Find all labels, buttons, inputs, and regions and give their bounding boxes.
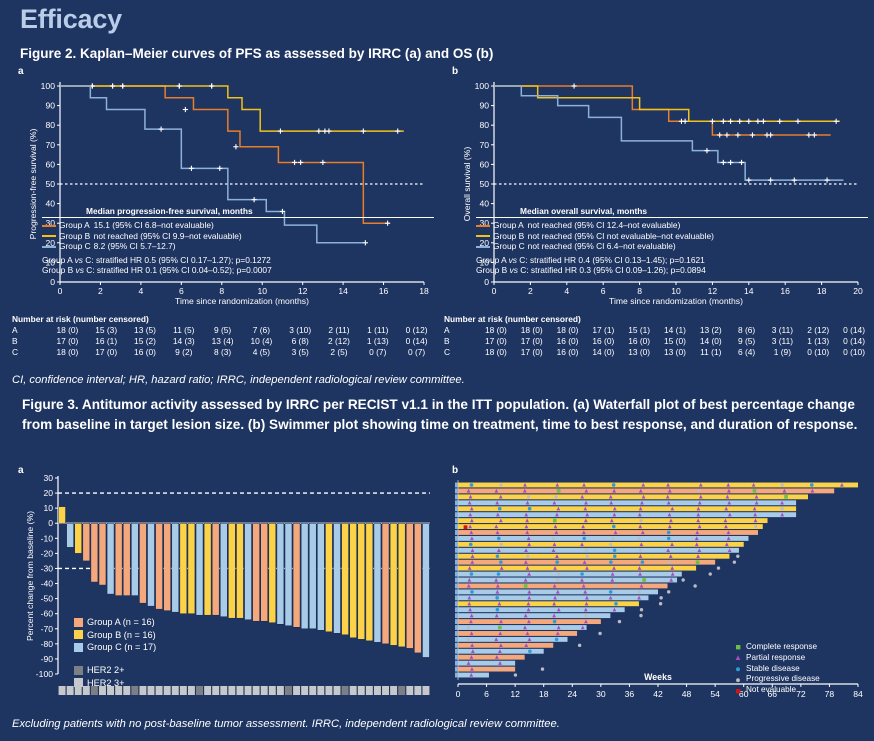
x-tick-label: 18 [539, 689, 549, 699]
risk-cell: 10 (4) [242, 336, 281, 347]
waterfall-bar [366, 523, 373, 641]
censor-mark [746, 119, 751, 124]
waterfall-bar [414, 523, 421, 653]
waterfall-bar [261, 523, 268, 621]
patient-row-tick [455, 619, 458, 624]
y-tick-label: -40 [41, 579, 54, 589]
swimmer-bar [458, 512, 796, 517]
km-curve-group-a [494, 86, 831, 135]
stable-disease-marker [497, 572, 501, 576]
patient-row-tick [455, 530, 458, 535]
y-tick-label: 0 [50, 277, 55, 287]
risk-cell: 15 (0) [657, 336, 693, 347]
progressive-disease-marker [611, 537, 614, 540]
waterfall-bar [67, 523, 74, 547]
censor-mark [110, 83, 115, 88]
swimmer-bar [458, 661, 515, 666]
her2-status-cell [309, 686, 316, 695]
legend-label: Progressive disease [746, 674, 820, 685]
her2-status-cell [148, 686, 155, 695]
her2-status-cell [253, 686, 260, 695]
risk-cell: 18 (0) [48, 325, 87, 336]
swatch [476, 235, 490, 237]
waterfall-bar [91, 523, 98, 582]
risk-cell: 18 (0) [550, 325, 586, 336]
risk-cell: 3 (11) [765, 325, 801, 336]
waterfall-bar [83, 523, 90, 561]
waterfall-bar [59, 507, 66, 524]
x-tick-label: 2 [98, 286, 103, 296]
risk-cell: 16 (0) [126, 347, 165, 358]
complete-response-marker [696, 560, 700, 564]
row-label: A [12, 325, 48, 336]
swatch [42, 225, 56, 227]
progressive-disease-marker [500, 543, 503, 546]
legend-table: Group Anot reached (95% CI 12.4–not eval… [476, 220, 717, 252]
waterfall-bar [188, 523, 195, 613]
y-tick-label: -100 [36, 669, 53, 679]
legend-row: Progressive disease [734, 674, 820, 685]
censor-mark [120, 83, 125, 88]
hazard-ratio-line: Group B vs C: stratified HR 0.3 (95% CI … [476, 265, 868, 276]
complete-response-marker [753, 489, 757, 493]
legend-group-label: Group A [59, 220, 94, 231]
legend-label: HER2 3+ [87, 677, 125, 690]
risk-cell: 17 (0) [48, 336, 87, 347]
patient-row-tick [455, 560, 458, 565]
number-at-risk-os: Number at risk (number censored)A18 (0)1… [444, 314, 872, 358]
progressive-disease-marker [499, 483, 502, 486]
legend-glyph-square [734, 687, 742, 695]
y-tick-label: -80 [41, 639, 54, 649]
stable-disease-marker [582, 537, 586, 541]
her2-status-cell [366, 686, 373, 695]
x-tick-label: 84 [853, 689, 863, 699]
legend-group-label: Group B [493, 231, 528, 242]
patient-row-tick [455, 643, 458, 648]
progressive-disease-marker [736, 555, 739, 558]
legend-row: Group C8.2 (95% CI 5.7–12.7) [42, 241, 245, 252]
progressive-disease-marker [586, 555, 589, 558]
waterfall-bar [99, 523, 106, 585]
risk-cell: 11 (5) [164, 325, 203, 336]
km-pfs-chart: 0102030405060708090100024681012141618Tim… [12, 78, 437, 313]
patient-row-tick [455, 607, 458, 612]
not-evaluable-marker [464, 525, 468, 529]
censor-mark [326, 128, 331, 133]
patient-row-tick [455, 554, 458, 559]
progressive-disease-marker [668, 561, 671, 564]
waterfall-legend: Group A (n = 16)Group B (n = 16)Group C … [74, 616, 156, 654]
swimmer-bar [458, 500, 796, 505]
progressive-disease-marker [618, 620, 621, 623]
waterfall-bar [342, 523, 349, 635]
risk-cell: 2 (12) [320, 336, 359, 347]
complete-response-marker [553, 519, 557, 523]
progressive-disease-marker [527, 495, 530, 498]
legend-row: Stable disease [734, 664, 820, 675]
waterfall-bar [180, 523, 187, 613]
swimmer-bar [458, 530, 758, 535]
legend-glyph-triangle [734, 654, 742, 662]
stable-disease-marker [497, 537, 501, 541]
legend-header: Median progression-free survival, months [42, 206, 434, 216]
risk-cell: 2 (12) [800, 325, 836, 336]
waterfall-bar [156, 523, 163, 609]
waterfall-bar [301, 523, 308, 629]
y-tick-label: -20 [41, 548, 54, 558]
km_os-legend: Median overall survival, monthsGroup Ano… [476, 206, 868, 276]
progressive-disease-marker [781, 507, 784, 510]
legend-color-swatch [74, 666, 83, 675]
her2-status-cell [228, 686, 235, 695]
risk-cell: 1 (11) [358, 325, 397, 336]
risk-cell: 4 (5) [242, 347, 281, 358]
x-tick-label: 8 [219, 286, 224, 296]
x-tick-label: 54 [710, 689, 720, 699]
risk-cell: 0 (14) [836, 325, 872, 336]
km-curve-group-c [494, 86, 843, 180]
x-tick-label: 16 [780, 286, 790, 296]
x-tick-label: 4 [564, 286, 569, 296]
progressive-disease-marker [526, 555, 529, 558]
poster-slide: Efficacy Figure 2. Kaplan–Meier curves o… [0, 0, 874, 741]
waterfall-chart: 3020100-10-20-30-40-50-60-70-80-90-100Pe… [12, 468, 438, 712]
stable-disease-marker [613, 549, 617, 553]
censor-mark [812, 132, 817, 137]
censor-mark [768, 177, 773, 182]
risk-cell: 6 (4) [729, 347, 765, 358]
her2-status-cell [398, 686, 405, 695]
y-tick-label: 80 [45, 120, 55, 130]
figure3-footnote: Excluding patients with no post-baseline… [12, 718, 560, 730]
legend-group-label: Group A [493, 220, 528, 231]
progressive-disease-marker [659, 602, 662, 605]
censor-mark [361, 128, 366, 133]
legend-glyph-star [734, 676, 742, 684]
y-tick-label: -90 [41, 654, 54, 664]
risk-cell: 3 (5) [281, 347, 320, 358]
her2-status-cell [422, 686, 429, 695]
patient-row-tick [455, 637, 458, 642]
risk-cell: 0 (12) [397, 325, 436, 336]
legend-label: Partial response [746, 653, 805, 664]
legend-row: Group Bnot reached (95% CI not evaluable… [476, 231, 717, 242]
y-tick-label: 0 [484, 277, 489, 287]
her2-status-cell [277, 686, 284, 695]
x-tick-label: 30 [596, 689, 606, 699]
censor-mark [298, 160, 303, 165]
figure3-title: Figure 3. Antitumor activity assessed by… [22, 395, 858, 435]
table-row: B17 (0)16 (1)15 (2)14 (3)13 (4)10 (4)6 (… [12, 336, 436, 347]
legend-color-swatch [42, 231, 59, 242]
risk-cell: 16 (0) [550, 347, 586, 358]
her2-status-cell [245, 686, 252, 695]
km-os-chart: 010203040506070809010002468101214161820T… [446, 78, 871, 313]
her2-status-cell [317, 686, 324, 695]
swimmer-bar [458, 637, 568, 642]
progressive-disease-marker [717, 566, 720, 569]
her2-status-cell [236, 686, 243, 695]
km-curve-group-b [60, 86, 404, 131]
her2-status-cell [188, 686, 195, 695]
swimmer-bar [458, 536, 748, 541]
x-tick-label: 12 [708, 286, 718, 296]
progressive-disease-marker [659, 596, 662, 599]
patient-row-tick [455, 595, 458, 600]
stable-disease-marker [499, 560, 503, 564]
waterfall-bar [309, 523, 316, 629]
stable-disease-marker [555, 560, 559, 564]
stable-disease-marker [553, 620, 557, 624]
risk-cell: 13 (2) [693, 325, 729, 336]
her2-status-cell [261, 686, 268, 695]
progressive-disease-marker [541, 667, 544, 670]
risk-cell: 16 (0) [585, 336, 621, 347]
patient-row-tick [455, 661, 458, 666]
legend-table: Group A15.1 (95% CI 6.8–not evaluable)Gr… [42, 220, 245, 252]
table-row: A18 (0)18 (0)18 (0)17 (1)15 (1)14 (1)13 … [444, 325, 872, 336]
y-tick-label: 100 [41, 81, 56, 91]
censor-mark [395, 128, 400, 133]
number-at-risk-table: A18 (0)18 (0)18 (0)17 (1)15 (1)14 (1)13 … [444, 325, 872, 358]
waterfall-bar [382, 523, 389, 644]
waterfall-bar [350, 523, 357, 638]
risk-cell: 3 (11) [765, 336, 801, 347]
risk-cell: 0 (14) [836, 336, 872, 347]
her2-status-cell [342, 686, 349, 695]
her2-status-cell [196, 686, 203, 695]
legend-label: Group C (n = 17) [87, 641, 156, 654]
risk-cell: 18 (0) [478, 325, 514, 336]
swimmer-bar [458, 595, 648, 600]
censor-mark [189, 166, 194, 171]
legend-row: Group Bnot reached (95% CI 9.9–not evalu… [42, 231, 245, 242]
progressive-disease-marker [467, 626, 470, 629]
waterfall-bar [374, 523, 381, 642]
y-tick-label: -70 [41, 624, 54, 634]
swimmer-bar [458, 560, 715, 565]
row-label: C [12, 347, 48, 358]
risk-cell: 6 (8) [281, 336, 320, 347]
patient-row-tick [455, 649, 458, 654]
censor-mark [704, 148, 709, 153]
patient-row-tick [455, 536, 458, 541]
legend-row: Not evaluable [734, 685, 820, 696]
complete-response-marker [784, 495, 788, 499]
legend-color-swatch [42, 241, 59, 252]
censor-mark [292, 160, 297, 165]
y-tick-label: 100 [475, 81, 490, 91]
patient-row-tick [455, 613, 458, 618]
risk-cell: 9 (5) [729, 336, 765, 347]
her2-status-cell [414, 686, 421, 695]
waterfall-bar [358, 523, 365, 639]
legend-row: Group A (n = 16) [74, 616, 156, 629]
swimmer-legend: Complete responsePartial responseStable … [734, 642, 820, 696]
swimmer-bar [458, 655, 525, 660]
progressive-disease-marker [681, 578, 684, 581]
her2-status-cell [164, 686, 171, 695]
table-row: C18 (0)17 (0)16 (0)14 (0)13 (0)13 (0)11 … [444, 347, 872, 358]
progressive-disease-marker [693, 584, 696, 587]
progressive-disease-marker [578, 644, 581, 647]
risk-cell: 18 (0) [48, 347, 87, 358]
x-tick-label: 24 [568, 689, 578, 699]
patient-row-tick [455, 483, 458, 488]
waterfall-bar [293, 523, 300, 627]
stable-disease-marker [609, 560, 613, 564]
stable-disease-marker [470, 483, 474, 487]
swimmer-bar [458, 601, 639, 606]
legend-median-value: 15.1 (95% CI 6.8–not evaluable) [94, 220, 245, 231]
x-tick-label: 0 [456, 689, 461, 699]
patient-row-tick [455, 566, 458, 571]
legend-group-label: Group C [493, 241, 528, 252]
progressive-disease-marker [609, 543, 612, 546]
swimmer-bar [458, 483, 858, 488]
swimmer-bar [458, 488, 834, 493]
risk-cell: 16 (0) [550, 336, 586, 347]
swatch [42, 246, 56, 248]
risk-cell: 18 (0) [514, 325, 550, 336]
patient-row-tick [455, 524, 458, 529]
waterfall-bar [123, 523, 130, 595]
y-tick-label: 0 [48, 518, 53, 528]
patient-row-tick [455, 631, 458, 636]
risk-cell: 15 (2) [126, 336, 165, 347]
censor-mark [806, 132, 811, 137]
number-at-risk-title: Number at risk (number censored) [444, 314, 872, 324]
risk-cell: 0 (10) [800, 347, 836, 358]
progressive-disease-marker [514, 673, 517, 676]
y-tick-label: 50 [479, 179, 489, 189]
row-label: B [12, 336, 48, 347]
x-tick-label: 4 [138, 286, 143, 296]
legend-row: Partial response [734, 653, 820, 664]
row-label: B [444, 336, 478, 347]
waterfall-bar [212, 523, 219, 615]
censor-mark [755, 119, 760, 124]
censor-mark [217, 166, 222, 171]
legend-label: Complete response [746, 642, 817, 653]
waterfall-bar [285, 523, 292, 626]
patient-row-tick [455, 673, 458, 678]
her2-status-cell [139, 686, 146, 695]
stable-disease-marker [470, 572, 474, 576]
y-tick-label: 70 [45, 140, 55, 150]
risk-cell: 16 (1) [87, 336, 126, 347]
her2-status-cell [325, 686, 332, 695]
y-tick-label: 10 [43, 503, 53, 513]
km_pfs-plot: 0102030405060708090100024681012141618Tim… [12, 78, 437, 313]
legend-rule [476, 217, 868, 218]
her2-status-cell [59, 686, 66, 695]
swatch [42, 235, 56, 237]
swimmer-chart: 0612182430364248546066727884WeeksComplet… [446, 468, 872, 712]
figure2-panel-b-letter: b [452, 66, 458, 77]
risk-cell: 17 (0) [87, 347, 126, 358]
figure2-title: Figure 2. Kaplan–Meier curves of PFS as … [20, 46, 493, 61]
her2-status-cell [131, 686, 138, 695]
x-tick-label: 6 [484, 689, 489, 699]
x-tick-label: 12 [510, 689, 520, 699]
x-tick-label: 18 [419, 286, 429, 296]
risk-cell: 11 (1) [693, 347, 729, 358]
y-tick-label: 80 [479, 120, 489, 130]
risk-cell: 13 (0) [621, 347, 657, 358]
progressive-disease-marker [639, 549, 642, 552]
her2-status-cell [334, 686, 341, 695]
x-tick-label: 0 [492, 286, 497, 296]
progressive-disease-marker [709, 572, 712, 575]
table-row: B17 (0)17 (0)16 (0)16 (0)16 (0)15 (0)14 … [444, 336, 872, 347]
number-at-risk-pfs: Number at risk (number censored)A18 (0)1… [12, 314, 436, 358]
stable-disease-marker [498, 507, 502, 511]
her2-status-cell [220, 686, 227, 695]
legend-group-label: Group C [59, 241, 94, 252]
swimmer-bar [458, 673, 489, 678]
her2-status-cell [382, 686, 389, 695]
censor-mark [739, 160, 744, 165]
risk-cell: 14 (0) [585, 347, 621, 358]
hazard-ratio-line: Group A vs C: stratified HR 0.4 (95% CI … [476, 255, 868, 266]
waterfall-bar [204, 523, 211, 615]
her2-status-cell [390, 686, 397, 695]
risk-cell: 14 (3) [164, 336, 203, 347]
x-tick-label: 6 [179, 286, 184, 296]
her2-status-cell [269, 686, 276, 695]
censor-mark [679, 119, 684, 124]
patient-row-tick [455, 488, 458, 493]
x-tick-label: 12 [298, 286, 308, 296]
x-tick-label: 8 [637, 286, 642, 296]
stable-disease-marker [613, 554, 617, 558]
legend-label: Group B (n = 16) [87, 629, 156, 642]
progressive-disease-marker [495, 667, 498, 670]
censor-mark [777, 119, 782, 124]
y-axis-title: Percent change from baseline (%) [25, 511, 35, 641]
patient-row-tick [455, 542, 458, 547]
her2-status-cell [204, 686, 211, 695]
risk-cell: 0 (7) [397, 347, 436, 358]
progressive-disease-marker [697, 489, 700, 492]
y-tick-label: 60 [479, 159, 489, 169]
legend-row: Group Anot reached (95% CI 12.4–not eval… [476, 220, 717, 231]
x-tick-label: 78 [825, 689, 835, 699]
waterfall-bar [390, 523, 397, 645]
risk-cell: 17 (0) [514, 336, 550, 347]
risk-cell: 17 (0) [514, 347, 550, 358]
waterfall-bar [228, 523, 235, 618]
x-tick-label: 0 [58, 286, 63, 296]
legend-median-value: not reached (95% CI 6.4–not evaluable) [528, 241, 717, 252]
her2-status-cell [406, 686, 413, 695]
patient-row-tick [455, 572, 458, 577]
waterfall-bar [75, 523, 82, 553]
progressive-disease-marker [667, 590, 670, 593]
y-tick-label: 20 [43, 488, 53, 498]
x-tick-label: 48 [682, 689, 692, 699]
stable-disease-marker [496, 608, 500, 612]
waterfall-bar [269, 523, 276, 623]
censor-mark [746, 177, 751, 182]
her2-status-cell [358, 686, 365, 695]
legend-color-swatch [476, 241, 493, 252]
swatch [476, 246, 490, 248]
x-tick-label: 14 [744, 286, 754, 296]
vs-italic: vs [509, 255, 517, 265]
